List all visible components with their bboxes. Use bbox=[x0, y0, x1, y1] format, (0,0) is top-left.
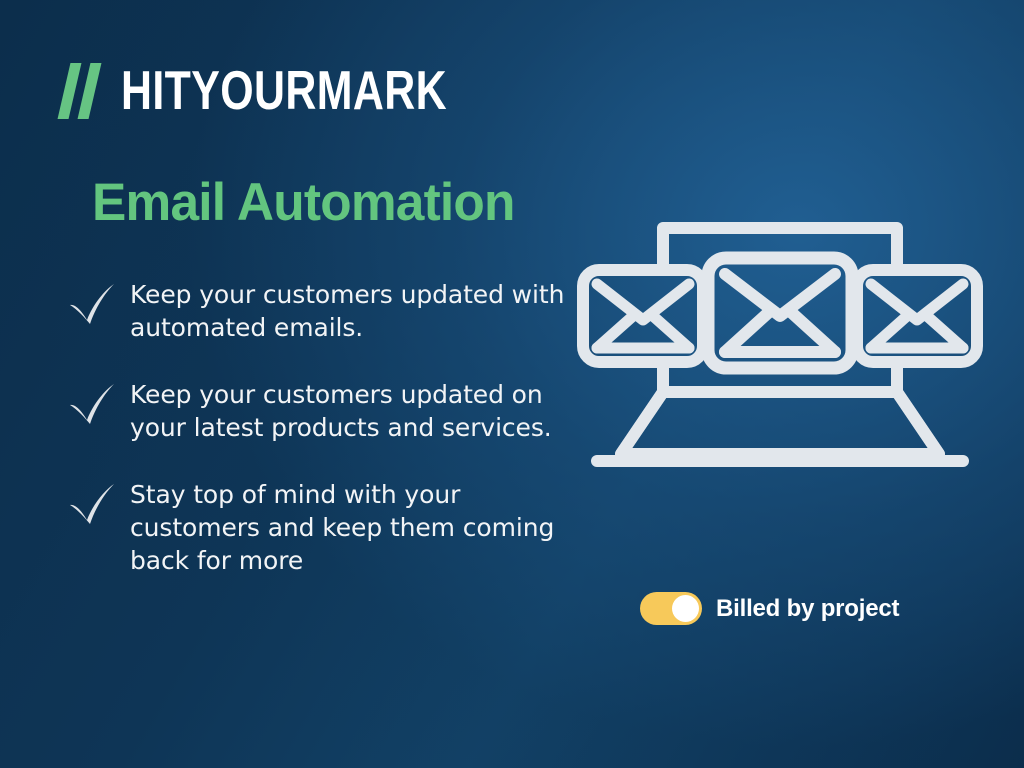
brand-wordmark: HITYOURMARK bbox=[121, 63, 447, 118]
envelope-icon bbox=[583, 270, 703, 362]
brand-logo: HITYOURMARK bbox=[58, 58, 539, 122]
list-item: Stay top of mind with your customers and… bbox=[66, 478, 576, 577]
list-item-label: Keep your customers updated with automat… bbox=[130, 278, 576, 344]
list-item: Keep your customers updated with automat… bbox=[66, 278, 576, 344]
toggle-knob bbox=[672, 595, 699, 622]
billing-badge-label: Billed by project bbox=[716, 595, 899, 623]
billing-badge: Billed by project bbox=[640, 592, 899, 625]
list-item: Keep your customers updated on your late… bbox=[66, 378, 576, 444]
list-item-label: Stay top of mind with your customers and… bbox=[130, 478, 576, 577]
double-slash-icon bbox=[58, 61, 108, 119]
checkmark-icon bbox=[66, 280, 118, 328]
page-title: Email Automation bbox=[92, 172, 515, 234]
envelope-icon bbox=[857, 270, 977, 362]
email-automation-diagram bbox=[575, 216, 985, 478]
envelope-icon bbox=[708, 258, 852, 368]
slide-canvas: HITYOURMARK Email Automation Keep your c… bbox=[0, 0, 1024, 768]
billing-toggle[interactable] bbox=[640, 592, 702, 625]
checkmark-icon bbox=[66, 380, 118, 428]
base-trapezoid bbox=[621, 392, 939, 454]
checkmark-icon bbox=[66, 480, 118, 528]
list-item-label: Keep your customers updated on your late… bbox=[130, 378, 576, 444]
feature-list: Keep your customers updated with automat… bbox=[66, 278, 576, 577]
